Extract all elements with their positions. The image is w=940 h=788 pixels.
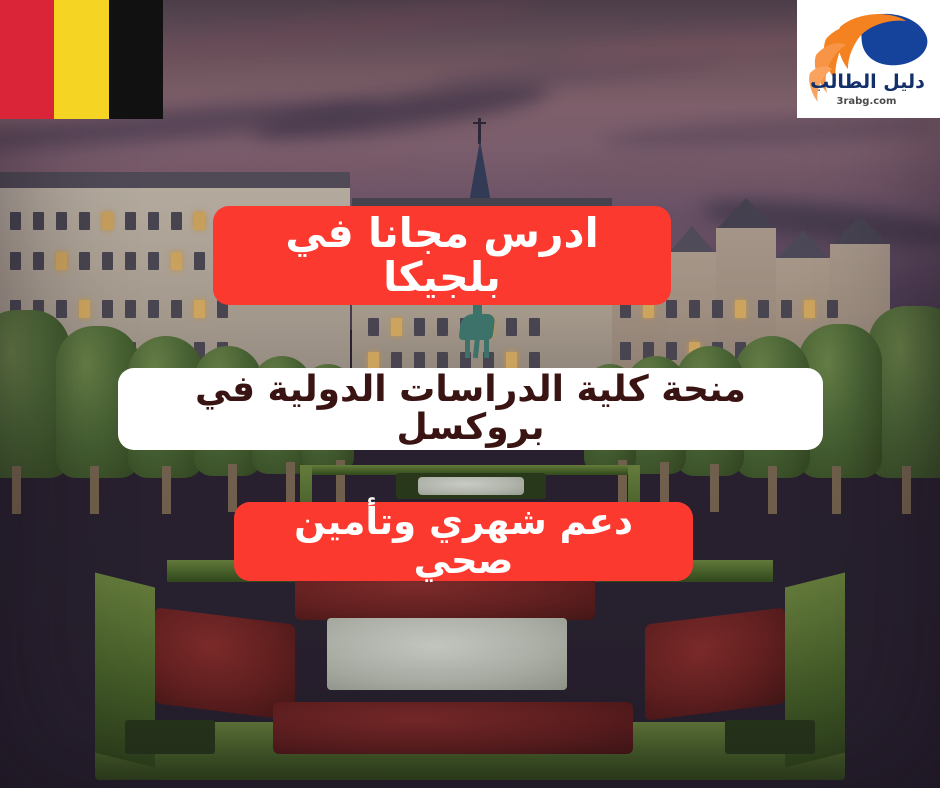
belgium-flag	[0, 0, 163, 119]
flag-black-stripe	[109, 0, 163, 119]
headline-banner-primary: ادرس مجانا في بلجيكا	[213, 206, 671, 305]
swoosh-icon	[806, 9, 932, 109]
logo-inner: دليل الطالب 3rabg.com	[806, 9, 932, 109]
flag-red-stripe	[0, 0, 54, 119]
logo-domain-text: 3rabg.com	[806, 96, 928, 107]
banner-1-text: ادرس مجانا في بلجيكا	[229, 212, 655, 298]
banner-2-text: منحة كلية الدراسات الدولية في بروكسل	[136, 371, 805, 447]
headline-banner-secondary: منحة كلية الدراسات الدولية في بروكسل	[118, 368, 823, 450]
poster-canvas: دليل الطالب 3rabg.com ادرس مجانا في بلجي…	[0, 0, 940, 788]
site-logo[interactable]: دليل الطالب 3rabg.com	[797, 0, 940, 118]
flag-yellow-stripe	[54, 0, 108, 119]
headline-banner-tertiary: دعم شهري وتأمين صحي	[234, 502, 693, 581]
banner-3-text: دعم شهري وتأمين صحي	[250, 503, 677, 581]
logo-brand-text: دليل الطالب	[806, 71, 930, 93]
